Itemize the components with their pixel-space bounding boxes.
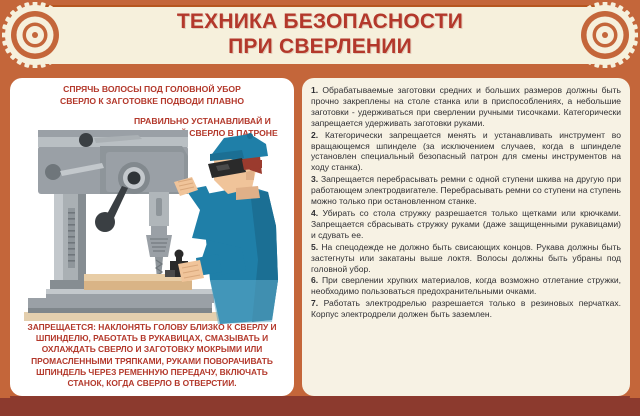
poster-header: ТЕХНИКА БЕЗОПАСНОСТИ ПРИ СВЕРЛЕНИИ (0, 0, 640, 70)
top-warning-line-1: СПРЯЧЬ ВОЛОСЫ ПОД ГОЛОВНОЙ УБОР (24, 84, 280, 96)
rule-text: Работать электродрелью разрешается тольк… (311, 298, 621, 319)
bottom-warning-line-5: ШПИНДЕЛЬ ЧЕРЕЗ РЕМЕННУЮ ПЕРЕДАЧУ, ВКЛЮЧА… (16, 367, 288, 378)
rule-text: Категорически запрещается менять и устан… (311, 130, 621, 173)
title-line-2: ПРИ СВЕРЛЕНИИ (60, 34, 580, 59)
spindle-bearing-inner (128, 172, 141, 185)
spindle-quill-lower (151, 226, 167, 235)
rule-item: 2. Категорически запрещается менять и ус… (311, 130, 621, 174)
spindle-quill-slot (156, 198, 162, 216)
rules-panel: 1. Обрабатываемые заготовки средних и бо… (302, 78, 630, 396)
rule-item: 5. На спецодежде не должно быть свисающи… (311, 242, 621, 275)
workpiece-support (84, 280, 192, 290)
chuck-warning-line-1: ПРАВИЛЬНО УСТАНАВЛИВАЙ И (134, 116, 290, 128)
drill-chuck (146, 235, 172, 257)
machine-table (46, 293, 214, 303)
bottom-warning-text: ЗАПРЕЩАЕТСЯ: НАКЛОНЯТЬ ГОЛОВУ БЛИЗКО К С… (16, 322, 288, 389)
worker-overalls-fade (210, 280, 278, 324)
rule-number: 2. (311, 130, 318, 140)
worker-cap-button (247, 133, 253, 139)
rule-number: 5. (311, 242, 318, 252)
bottom-warning-line-2: ШПИНДЕЛЮ, РАБОТАТЬ В РУКАВИЦАХ, СМАЗЫВАТ… (16, 333, 288, 344)
rules-list: 1. Обрабатываемые заготовки средних и бо… (311, 85, 621, 320)
rule-number: 1. (311, 85, 318, 95)
bottom-warning-line-1: ЗАПРЕЩАЕТСЯ: НАКЛОНЯТЬ ГОЛОВУ БЛИЗКО К С… (16, 322, 288, 333)
rule-number: 7. (311, 298, 318, 308)
rule-text: Обрабатываемые заготовки средних и больш… (311, 85, 621, 128)
title-line-1: ТЕХНИКА БЕЗОПАСНОСТИ (60, 9, 580, 34)
gear-icon (572, 2, 638, 68)
rule-text: При сверлении хрупких материалов, когда … (311, 275, 621, 296)
floor-surface (24, 312, 220, 321)
belt-cover-knob (79, 133, 93, 147)
rule-number: 6. (311, 275, 318, 285)
rule-text: На спецодежде не должно быть свисающих к… (311, 242, 621, 274)
bottom-warning-line-4: ПРОМАСЛЕННЫМИ ТРЯПКАМИ, РУКАМИ ПОВОРАЧИВ… (16, 356, 288, 367)
rule-text: Убирать со стола стружку разрешается тол… (311, 208, 621, 240)
rule-number: 4. (311, 208, 318, 218)
clamp-handle (175, 250, 184, 259)
rule-text: Запрещается перебрасывать ремни с одной … (311, 174, 621, 206)
bottom-band (0, 398, 640, 416)
feed-handle-ball (95, 212, 115, 232)
top-warning-line-2: СВЕРЛО К ЗАГОТОВКЕ ПОДВОДИ ПЛАВНО (24, 96, 280, 108)
rule-item: 1. Обрабатываемые заготовки средних и бо… (311, 85, 621, 129)
rule-item: 3. Запрещается перебрасывать ремни с одн… (311, 174, 621, 207)
gear-icon (2, 2, 68, 68)
bottom-warning-line-3: ОХЛАЖДАТЬ СВЕРЛО И ЗАГОТОВКУ МОКРЫМИ ИЛИ (16, 344, 288, 355)
rule-number: 3. (311, 174, 318, 184)
bottom-warning-line-6: СТАНОК, КОГДА СВЕРЛО В ОТВЕРСТИИ. (16, 378, 288, 389)
machine-base-shadow (28, 308, 212, 313)
worker-neck (236, 186, 260, 200)
illustration-panel: СПРЯЧЬ ВОЛОСЫ ПОД ГОЛОВНОЙ УБОР СВЕРЛО К… (10, 78, 294, 396)
page-title: ТЕХНИКА БЕЗОПАСНОСТИ ПРИ СВЕРЛЕНИИ (60, 9, 580, 59)
machine-head-top-band (38, 130, 188, 137)
rack-teeth (68, 212, 75, 262)
drill-press-illustration (10, 130, 294, 330)
top-warning-text: СПРЯЧЬ ВОЛОСЫ ПОД ГОЛОВНОЙ УБОР СВЕРЛО К… (24, 84, 280, 107)
clamp-jaw (165, 270, 175, 277)
depth-knob (45, 164, 61, 180)
rule-item: 4. Убирать со стола стружку разрешается … (311, 208, 621, 241)
column-rack (68, 208, 75, 268)
rule-item: 6. При сверлении хрупких материалов, ког… (311, 275, 621, 297)
safety-poster: ТЕХНИКА БЕЗОПАСНОСТИ ПРИ СВЕРЛЕНИИ СПРЯЧ… (0, 0, 640, 416)
rule-item: 7. Работать электродрелью разрешается то… (311, 298, 621, 320)
